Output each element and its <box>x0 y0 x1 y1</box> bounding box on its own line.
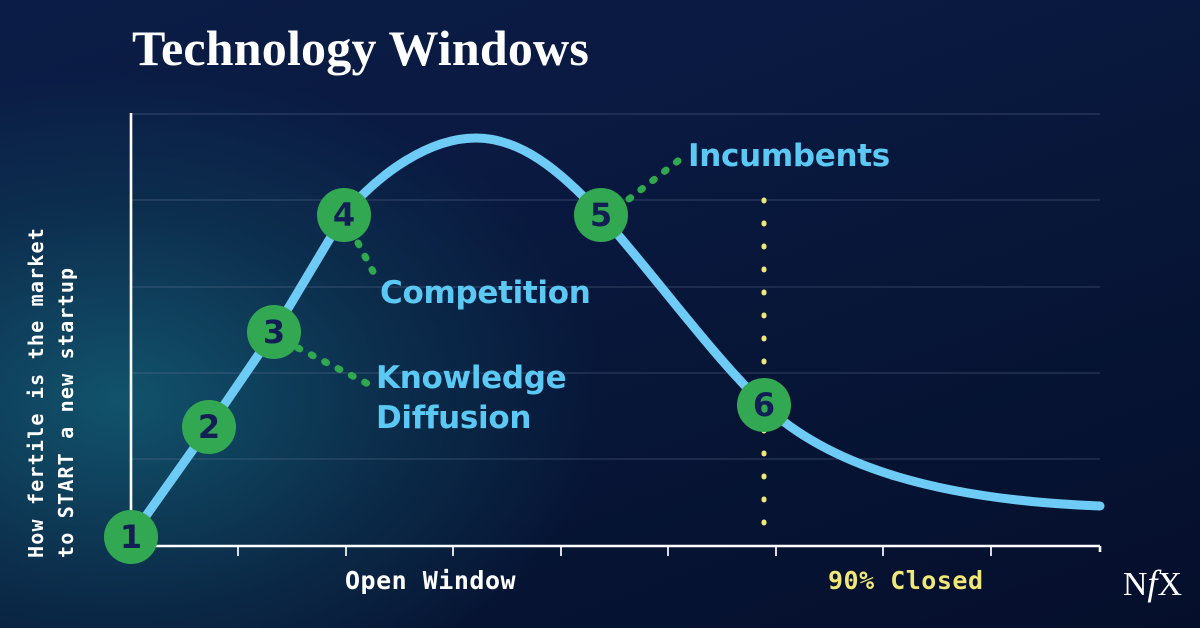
nfx-logo: NfX <box>1123 562 1182 604</box>
stage-node-2[interactable]: 2 <box>182 400 236 454</box>
stage-node-label: 4 <box>333 199 355 231</box>
leader-line-competition <box>358 243 378 281</box>
logo-letter-f: f <box>1147 563 1157 603</box>
chart-canvas: Technology Windows How fertile is the ma… <box>0 0 1200 628</box>
stage-node-6[interactable]: 6 <box>737 378 791 432</box>
stage-node-label: 6 <box>753 389 775 421</box>
stage-node-1[interactable]: 1 <box>104 510 158 564</box>
x-axis-ticks <box>238 547 991 556</box>
leader-line-knowledge <box>298 348 372 386</box>
stage-node-4[interactable]: 4 <box>317 188 371 242</box>
stage-node-label: 2 <box>198 411 220 443</box>
callout-knowledge-diffusion: Knowledge Diffusion <box>376 359 566 438</box>
leader-line-incumbents <box>629 157 683 199</box>
stage-node-3[interactable]: 3 <box>247 305 301 359</box>
x-axis-caption-open-window: Open Window <box>345 566 516 595</box>
stage-node-label: 3 <box>263 316 285 348</box>
callout-incumbents: Incumbents <box>688 137 890 177</box>
callout-competition: Competition <box>380 274 591 314</box>
logo-letter-x: X <box>1157 566 1182 603</box>
x-axis-caption-closed: 90% Closed <box>828 566 984 595</box>
plot-area <box>0 0 1200 628</box>
stage-node-label: 5 <box>590 199 612 231</box>
stage-node-label: 1 <box>120 521 142 553</box>
gridlines <box>131 114 1100 459</box>
logo-letter-n: N <box>1123 566 1148 603</box>
stage-node-5[interactable]: 5 <box>574 188 628 242</box>
